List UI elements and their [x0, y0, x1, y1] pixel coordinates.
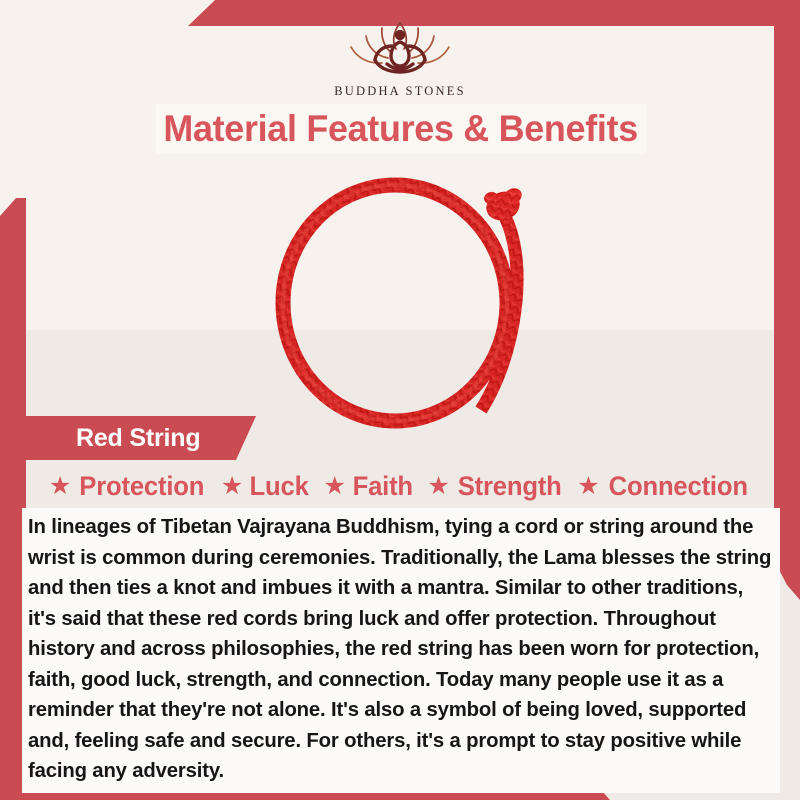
description-text: In lineages of Tibetan Vajrayana Buddhis…: [22, 512, 780, 787]
feature-item-strength: ★ Strength: [427, 471, 564, 502]
product-image-red-string-bracelet: [245, 158, 565, 433]
brand-name: BUDDHA STONES: [334, 84, 466, 99]
star-icon: ★: [427, 474, 449, 499]
product-name-ribbon: Red String: [14, 416, 256, 460]
star-icon: ★: [221, 474, 243, 499]
feature-item-faith: ★ Faith: [323, 471, 414, 502]
star-icon: ★: [49, 474, 71, 499]
page-title: Material Features & Benefits: [164, 108, 639, 150]
feature-label: Protection: [80, 471, 205, 502]
feature-label: Strength: [458, 471, 562, 502]
feature-label: Connection: [608, 471, 747, 502]
feature-label: Luck: [250, 471, 309, 502]
star-icon: ★: [577, 474, 599, 499]
feature-item-luck: ★ Luck: [221, 471, 311, 502]
brand-logo: BUDDHA STONES: [0, 16, 800, 99]
feature-item-protection: ★ Protection: [49, 471, 208, 502]
feature-label: Faith: [352, 471, 412, 502]
product-name-label: Red String: [76, 424, 200, 453]
description-panel: In lineages of Tibetan Vajrayana Buddhis…: [22, 508, 780, 793]
star-icon: ★: [323, 474, 345, 499]
lotus-meditation-icon: [335, 16, 465, 82]
feature-list: ★ Protection ★ Luck ★ Faith ★ Strength ★…: [0, 466, 800, 506]
feature-item-connection: ★ Connection: [577, 471, 751, 502]
infographic-poster: BUDDHA STONES Material Features & Benefi…: [0, 0, 800, 800]
title-banner: Material Features & Benefits: [156, 104, 646, 154]
